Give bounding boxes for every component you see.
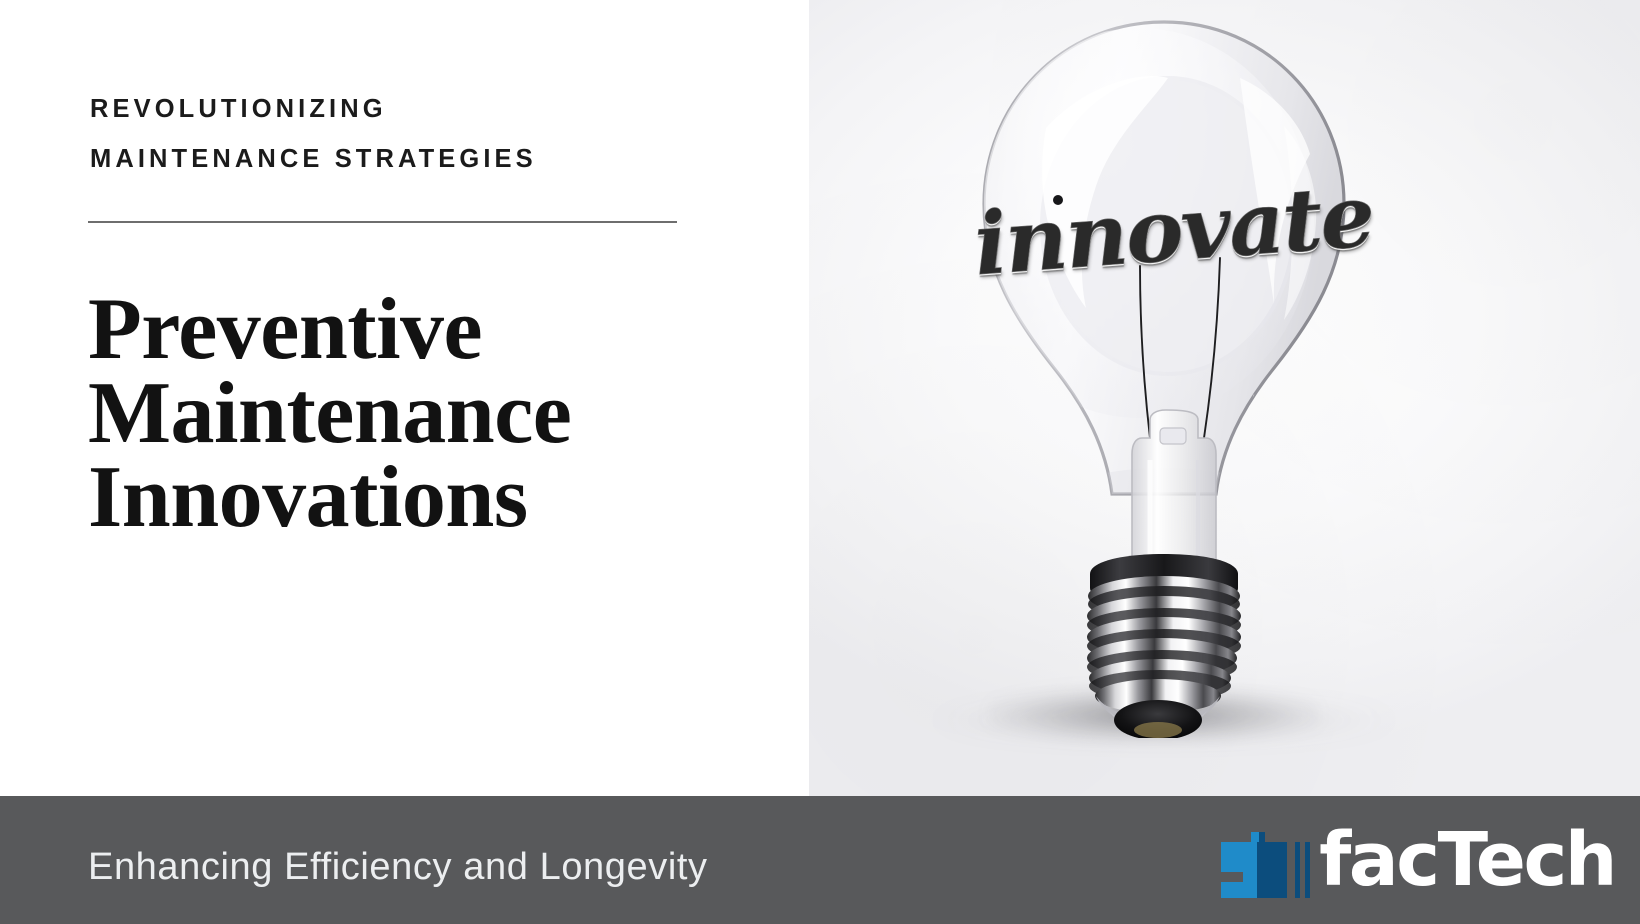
bulb-screw-base: [1087, 554, 1241, 738]
divider-rule: [88, 221, 677, 223]
slide-root: REVOLUTIONIZING MAINTENANCE STRATEGIES P…: [0, 0, 1640, 924]
bulb-svg: [954, 8, 1374, 738]
page-title: Preventive Maintenance Innovations: [88, 288, 778, 540]
footer-bar: Enhancing Efficiency and Longevity facTe…: [0, 796, 1640, 924]
building-icon: [1221, 814, 1289, 906]
hero-image-panel: innovate: [809, 0, 1640, 796]
footer-tagline: Enhancing Efficiency and Longevity: [88, 846, 708, 889]
eyebrow-kicker: REVOLUTIONIZING MAINTENANCE STRATEGIES: [90, 84, 730, 184]
logo-wordmark: facTech: [1319, 814, 1615, 906]
brand-logo[interactable]: facTech: [1221, 814, 1615, 906]
logo-separator-bars: [1289, 814, 1315, 906]
light-bulb-illustration: innovate: [954, 8, 1374, 738]
glass-seed-dot: [1053, 195, 1063, 205]
left-text-panel: REVOLUTIONIZING MAINTENANCE STRATEGIES P…: [0, 0, 809, 796]
